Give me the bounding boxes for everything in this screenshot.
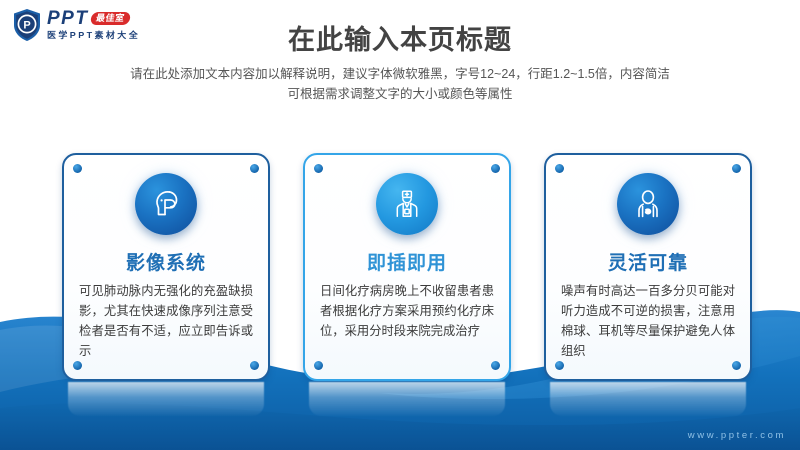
feature-card-2-title: 即插即用 (305, 248, 509, 275)
feature-card-3-wrapper: 灵活可靠 噪声有时高达一百多分贝可能对听力造成不可逆的损害，注意用棉球、耳机等尽… (544, 153, 752, 393)
corner-dot-icon (73, 361, 82, 370)
feature-card-3-title: 灵活可靠 (546, 248, 750, 275)
footer-watermark-url: www.ppter.com (688, 430, 786, 441)
corner-dot-icon (73, 164, 82, 173)
corner-dot-icon (555, 361, 564, 370)
corner-dot-icon (555, 164, 564, 173)
subtitle-line-1: 请在此处添加文本内容加以解释说明，建议字体微软雅黑，字号12~24，行距1.2~… (0, 64, 800, 84)
feature-cards: 影像系统 可见肺动脉内无强化的充盈缺损影，尤其在快速成像序列注意受检者是否有不适… (0, 153, 800, 393)
corner-dot-icon (732, 164, 741, 173)
corner-dot-icon (732, 361, 741, 370)
feature-card-2-wrapper: 即插即用 日间化疗病房晚上不收留患者患者根据化疗方案采用预约化疗床位，采用分时段… (303, 153, 511, 393)
logo-tagline: 医学PPT素材大全 (47, 29, 140, 40)
slide: P PPT 最佳室 医学PPT素材大全 在此输入本页标题 请在此处添加文本内容加… (0, 0, 800, 450)
doctor-icon (376, 173, 438, 235)
pregnant-person-icon (617, 173, 679, 235)
feature-card-3-body: 噪声有时高达一百多分贝可能对听力造成不可逆的损害，注意用棉球、耳机等尽量保护避免… (561, 281, 735, 361)
page-subtitle: 请在此处添加文本内容加以解释说明，建议字体微软雅黑，字号12~24，行距1.2~… (0, 64, 800, 104)
feature-card-1-body: 可见肺动脉内无强化的充盈缺损影，尤其在快速成像序列注意受检者是否有不适，应立即告… (79, 281, 253, 361)
corner-dot-icon (250, 164, 259, 173)
feature-card-2-body: 日间化疗病房晚上不收留患者患者根据化疗方案采用预约化疗床位，采用分时段来院完成治… (320, 281, 494, 341)
head-lungs-icon (135, 173, 197, 235)
shield-icon: P (12, 8, 42, 42)
feature-card-3[interactable]: 灵活可靠 噪声有时高达一百多分贝可能对听力造成不可逆的损害，注意用棉球、耳机等尽… (544, 153, 752, 381)
logo-brand-text: PPT (47, 9, 88, 28)
corner-dot-icon (314, 164, 323, 173)
feature-card-1[interactable]: 影像系统 可见肺动脉内无强化的充盈缺损影，尤其在快速成像序列注意受检者是否有不适… (62, 153, 270, 381)
svg-text:P: P (23, 19, 30, 31)
corner-dot-icon (491, 361, 500, 370)
feature-card-1-title: 影像系统 (64, 248, 268, 275)
corner-dot-icon (491, 164, 500, 173)
logo-badge: 最佳室 (90, 12, 131, 25)
logo-text-block: PPT 最佳室 医学PPT素材大全 (47, 8, 140, 42)
feature-card-2[interactable]: 即插即用 日间化疗病房晚上不收留患者患者根据化疗方案采用预约化疗床位，采用分时段… (303, 153, 511, 381)
corner-dot-icon (314, 361, 323, 370)
logo-primary-row: PPT 最佳室 (47, 9, 140, 28)
subtitle-line-2: 可根据需求调整文字的大小或颜色等属性 (0, 84, 800, 104)
feature-card-1-wrapper: 影像系统 可见肺动脉内无强化的充盈缺损影，尤其在快速成像序列注意受检者是否有不适… (62, 153, 270, 393)
brand-logo[interactable]: P PPT 最佳室 医学PPT素材大全 (12, 8, 140, 42)
corner-dot-icon (250, 361, 259, 370)
